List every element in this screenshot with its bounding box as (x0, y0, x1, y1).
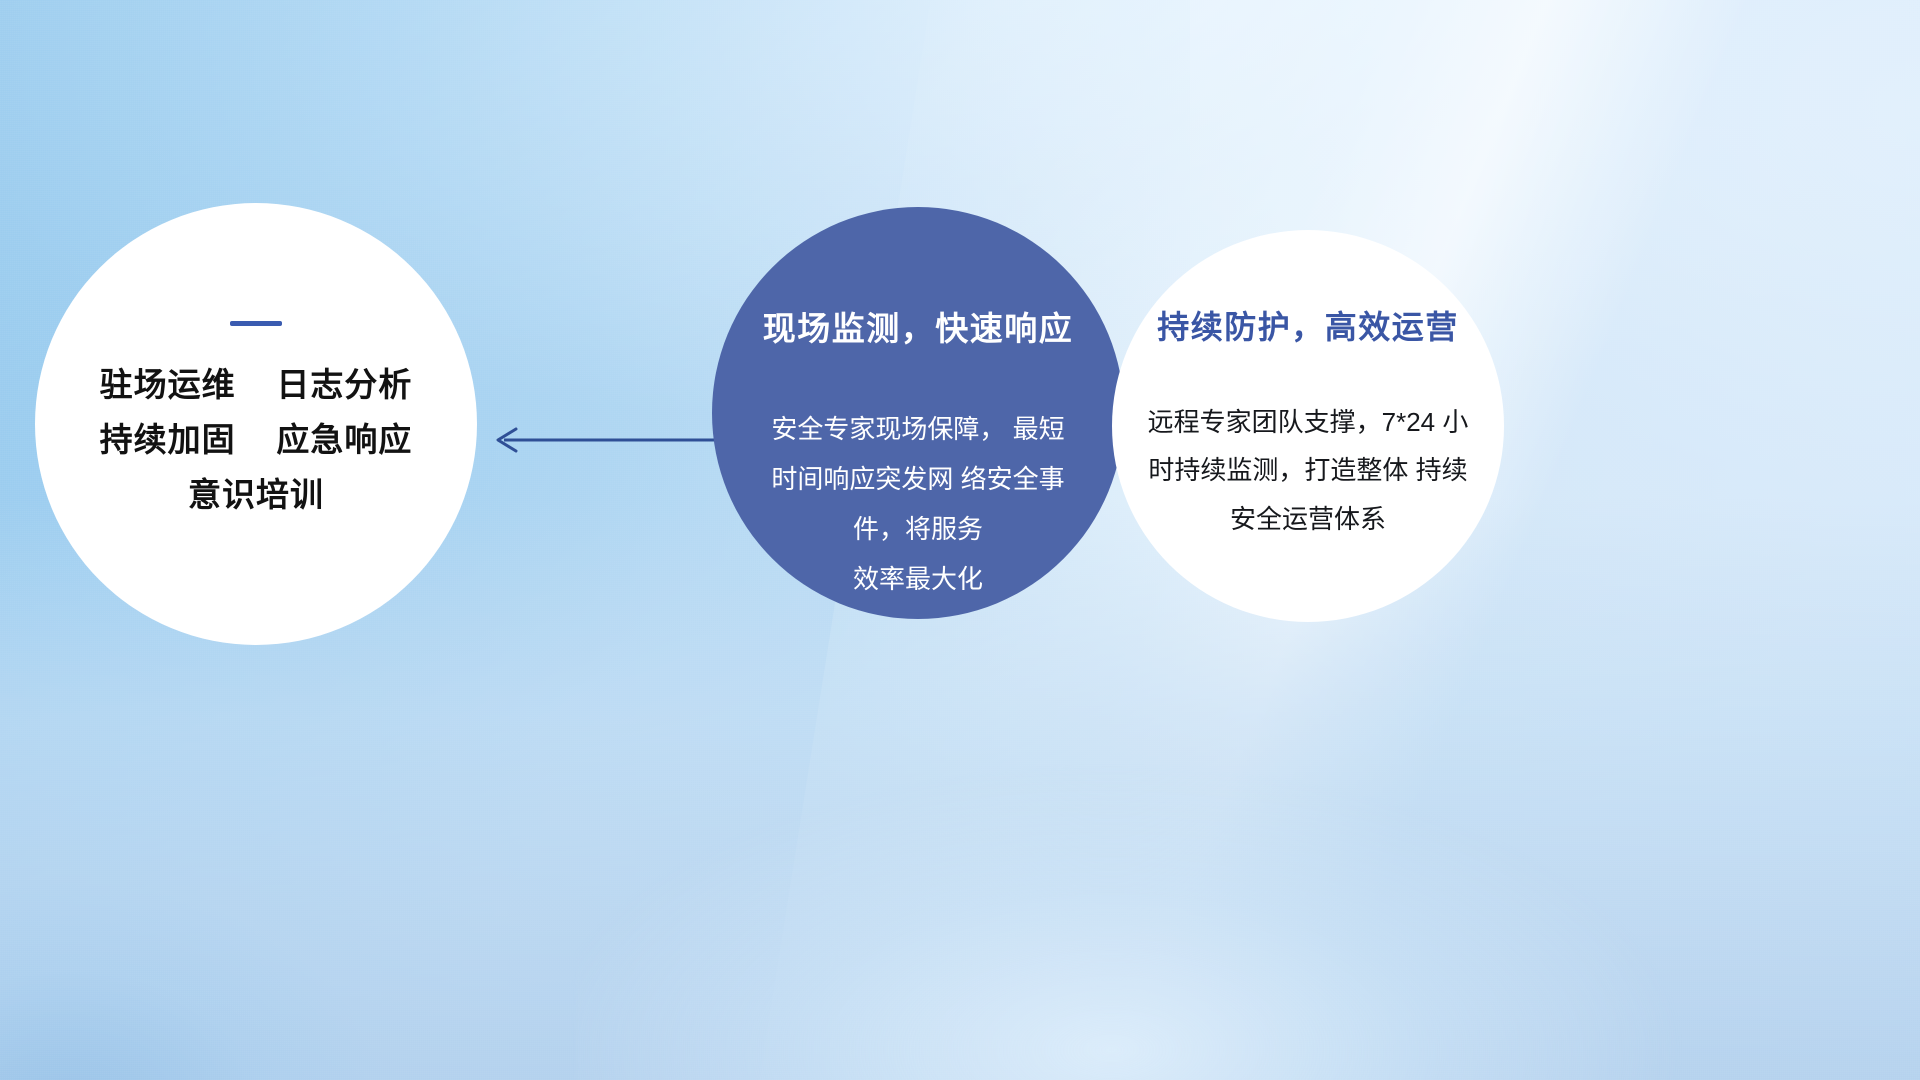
circle-continuous-protection[interactable]: 持续防护，高效运营 远程专家团队支撑，7*24 小时持续监测，打造整体 持续安全… (1112, 230, 1504, 622)
capabilities-keyword-list: 驻场运维 日志分析 持续加固 应急响应 意识培训 (35, 368, 477, 511)
onsite-monitoring-body: 安全专家现场保障， 最短时间响应突发网 络安全事件，将服务 效率最大化 (768, 405, 1068, 605)
capabilities-row-1: 驻场运维 日志分析 (100, 368, 413, 401)
capabilities-row-3: 意识培训 (188, 478, 324, 511)
protection-body-line-1: 远程专家团队支撑，7*24 (1148, 407, 1436, 437)
continuous-protection-body: 远程专家团队支撑，7*24 小时持续监测，打造整体 持续安全运营体系 (1138, 398, 1478, 543)
onsite-monitoring-title: 现场监测，快速响应 (763, 302, 1074, 350)
circle-capabilities[interactable]: 驻场运维 日志分析 持续加固 应急响应 意识培训 (35, 203, 477, 645)
capabilities-row-2: 持续加固 应急响应 (100, 423, 413, 456)
three-circle-diagram: 驻场运维 日志分析 持续加固 应急响应 意识培训 现场监测，快速响应 安全专家现… (0, 0, 1920, 1080)
arrow-left-icon (470, 414, 720, 466)
continuous-protection-title: 持续防护，高效运营 (1157, 302, 1459, 348)
onsite-body-line-1: 安全专家现场保障， (771, 414, 1005, 444)
circle-onsite-monitoring[interactable]: 现场监测，快速响应 安全专家现场保障， 最短时间响应突发网 络安全事件，将服务 … (712, 207, 1124, 619)
onsite-body-line-4: 效率最大化 (768, 555, 1068, 605)
divider-dash (230, 321, 282, 326)
